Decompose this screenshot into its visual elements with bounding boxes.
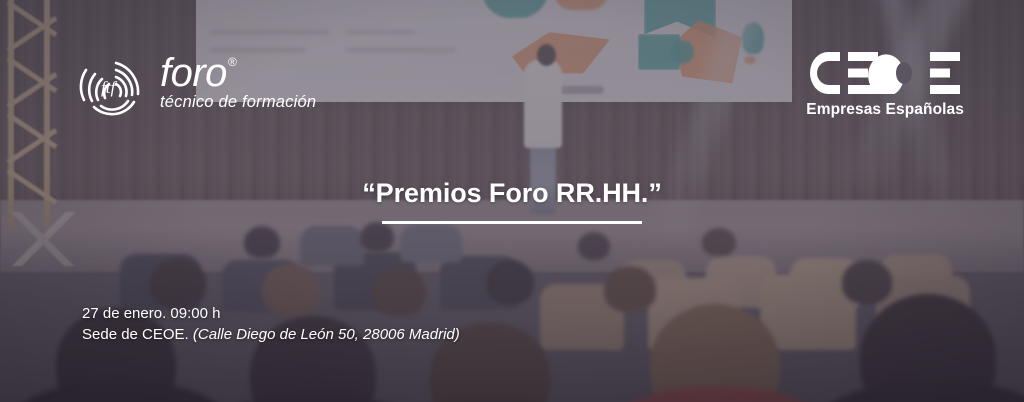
event-venue: Sede de CEOE. (Calle Diego de León 50, 2…: [82, 324, 460, 345]
foro-wordmark: foro: [160, 54, 227, 92]
ceoe-logo[interactable]: Empresas Españolas: [806, 52, 964, 119]
svg-text:ftf: ftf: [101, 78, 117, 97]
title-block: “Premios Foro RR.HH.”: [0, 178, 1024, 224]
event-venue-address: (Calle Diego de León 50, 28006 Madrid): [193, 326, 460, 343]
registered-trademark-icon: ®: [228, 55, 237, 69]
ftf-spiral-mark-icon: ftf: [76, 50, 148, 122]
ceoe-subtitle: Empresas Españolas: [806, 101, 964, 119]
event-info: 27 de enero. 09:00 h Sede de CEOE. (Call…: [82, 303, 460, 345]
title-underline-divider: [382, 221, 642, 224]
foro-tagline: técnico de formación: [160, 93, 316, 112]
event-datetime: 27 de enero. 09:00 h: [82, 303, 460, 324]
event-venue-name: Sede de CEOE.: [82, 326, 193, 343]
foro-logo[interactable]: ftf foro® técnico de formación: [76, 50, 316, 122]
banner-content: ftf foro® técnico de formación: [0, 0, 1024, 402]
page-title: “Premios Foro RR.HH.”: [0, 178, 1024, 209]
event-banner: ftf foro® técnico de formación: [0, 0, 1024, 402]
ceoe-mark-icon: [806, 52, 964, 94]
